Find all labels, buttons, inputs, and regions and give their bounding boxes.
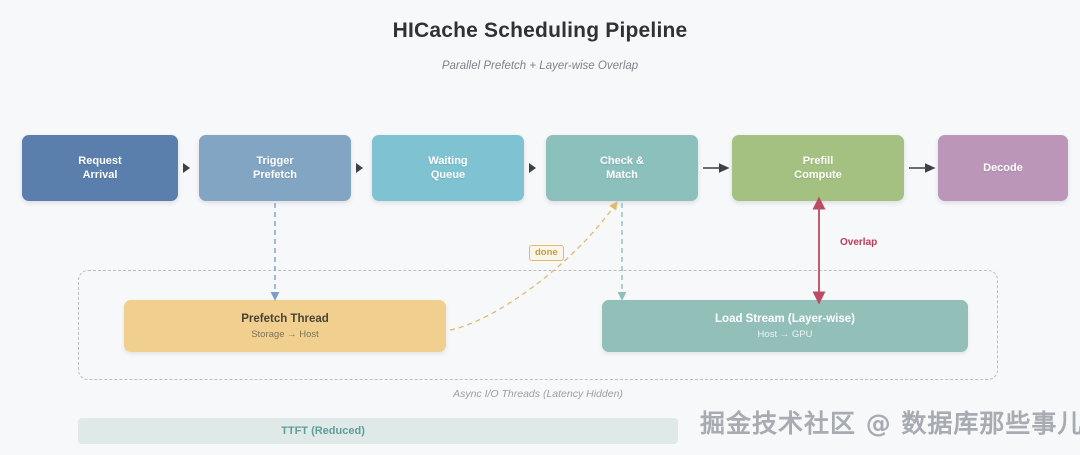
watermark-text: 掘金技术社区 @ 数据库那些事儿 — [700, 404, 1080, 440]
page-title: HICache Scheduling Pipeline — [0, 19, 1080, 43]
stage-label-line1: Decode — [983, 161, 1023, 175]
thread-title: Load Stream (Layer-wise) — [715, 311, 855, 327]
stage-label-line1: Check & — [600, 154, 644, 168]
stage-label-line2: Match — [606, 168, 638, 182]
arrow-waiting-to-check-icon — [529, 163, 536, 173]
stage-box-request-arrival[interactable]: Request Arrival — [22, 135, 178, 201]
done-badge: done — [529, 245, 564, 261]
diagram-canvas: HICache Scheduling Pipeline Parallel Pre… — [0, 0, 1080, 455]
thread-subtitle: Storage → Host — [251, 327, 319, 342]
stage-box-waiting-queue[interactable]: Waiting Queue — [372, 135, 524, 201]
thread-box-prefetch-thread[interactable]: Prefetch Thread Storage → Host — [124, 300, 446, 352]
arrow-trigger-to-waiting-icon — [356, 163, 363, 173]
stage-label-line2: Prefetch — [253, 168, 297, 182]
stage-box-trigger-prefetch[interactable]: Trigger Prefetch — [199, 135, 351, 201]
stage-label-line2: Compute — [794, 168, 842, 182]
async-io-caption: Async I/O Threads (Latency Hidden) — [78, 388, 998, 400]
arrow-request-to-trigger-icon — [183, 163, 190, 173]
thread-subtitle: Host → GPU — [758, 327, 813, 342]
thread-title: Prefetch Thread — [241, 311, 329, 327]
stage-label-line1: Request — [78, 154, 121, 168]
stage-label-line2: Arrival — [83, 168, 118, 182]
stage-label-line1: Prefill — [803, 154, 834, 168]
stage-label-line1: Trigger — [256, 154, 293, 168]
stage-box-decode[interactable]: Decode — [938, 135, 1068, 201]
stage-label-line1: Waiting — [428, 154, 467, 168]
ttft-label: TTFT (Reduced) — [78, 418, 678, 444]
stage-box-check-match[interactable]: Check & Match — [546, 135, 698, 201]
stage-label-line2: Queue — [431, 168, 465, 182]
stage-box-prefill-compute[interactable]: Prefill Compute — [732, 135, 904, 201]
page-subtitle: Parallel Prefetch + Layer-wise Overlap — [0, 60, 1080, 72]
overlap-label: Overlap — [840, 237, 877, 248]
thread-box-load-stream[interactable]: Load Stream (Layer-wise) Host → GPU — [602, 300, 968, 352]
